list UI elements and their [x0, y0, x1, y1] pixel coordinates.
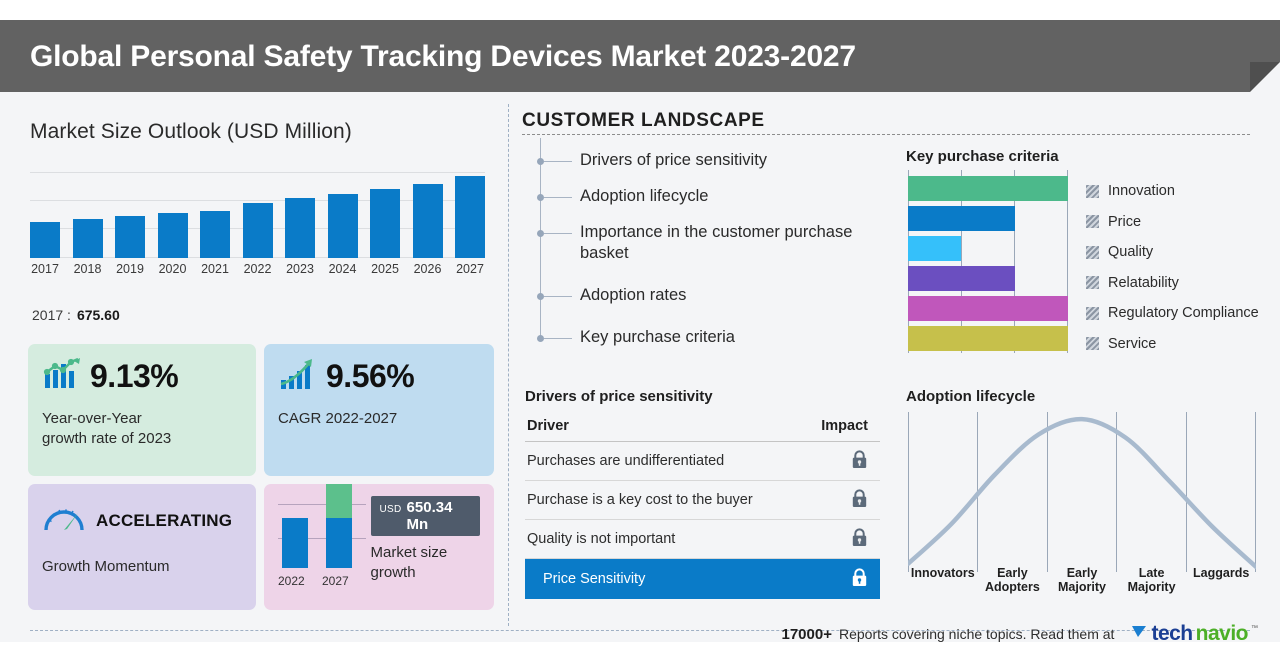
- legend-item: Regulatory Compliance: [1086, 298, 1259, 329]
- infographic-page: Global Personal Safety Tracking Devices …: [0, 0, 1280, 670]
- legend-swatch-icon: [1086, 246, 1099, 259]
- driver-label: Quality is not important: [527, 531, 675, 547]
- market-size-note: 2017 :675.60: [32, 307, 120, 323]
- drivers-table-body: Purchases are undifferentiatedPurchase i…: [525, 442, 880, 599]
- market-size-bar: [115, 216, 145, 258]
- purchase-criteria-bar: [908, 176, 1068, 201]
- market-size-growth-chart: 2022 2027: [278, 496, 361, 588]
- market-size-x-label: 2021: [200, 262, 230, 276]
- market-size-bar: [455, 176, 485, 258]
- mini-x-label-2022: 2022: [278, 574, 305, 588]
- market-size-bar: [73, 219, 103, 258]
- bullet-dot-icon: [537, 158, 544, 165]
- legend-item: Service: [1086, 329, 1259, 360]
- legend-swatch-icon: [1086, 276, 1099, 289]
- kpi-card-momentum: ACCELERATING Growth Momentum: [28, 484, 256, 610]
- usd-badge: USD 650.34 Mn: [371, 496, 480, 536]
- gridline: [278, 504, 366, 505]
- market-size-x-label: 2023: [285, 262, 315, 276]
- market-size-x-label: 2018: [73, 262, 103, 276]
- adoption-stage-label: EarlyMajority: [1047, 566, 1117, 595]
- logo-text-navio: navio: [1196, 622, 1248, 646]
- mini-x-label-2027: 2027: [322, 574, 349, 588]
- driver-label: Purchases are undifferentiated: [527, 453, 724, 469]
- kpi-yoy-caption-line1: Year-over-Year: [42, 410, 142, 427]
- legend-swatch-icon: [1086, 215, 1099, 228]
- adoption-lifecycle-stage-labels: InnovatorsEarlyAdoptersEarlyMajorityLate…: [908, 566, 1256, 595]
- kpi-card-cagr: 9.56% CAGR 2022-2027: [264, 344, 494, 476]
- kpi-cagr-value: 9.56%: [326, 358, 414, 395]
- market-size-growth-caption: Market size growth: [371, 543, 480, 582]
- customer-landscape-underline: [522, 134, 1250, 135]
- adoption-stage-label: LateMajority: [1117, 566, 1187, 595]
- legend-swatch-icon: [1086, 185, 1099, 198]
- market-size-x-label: 2026: [413, 262, 443, 276]
- market-size-bar: [413, 184, 443, 258]
- impact-cell: [851, 450, 868, 473]
- kpi-momentum-value: ACCELERATING: [96, 511, 232, 531]
- kpi-momentum-row: ACCELERATING: [42, 502, 242, 539]
- connector-line: [544, 161, 572, 162]
- purchase-criteria-bars: [908, 176, 1068, 356]
- legend-label: Innovation: [1108, 183, 1175, 199]
- customer-landscape-title: CUSTOMER LANDSCAPE: [522, 110, 765, 132]
- market-size-growth-info: USD 650.34 Mn Market size growth: [371, 496, 480, 588]
- purchase-criteria-bar: [908, 326, 1068, 351]
- market-size-bar: [328, 194, 358, 258]
- legend-swatch-icon: [1086, 337, 1099, 350]
- note-value: 675.60: [77, 307, 120, 323]
- impact-cell: [851, 568, 868, 591]
- market-size-chart: [30, 172, 485, 258]
- market-size-x-label: 2025: [370, 262, 400, 276]
- mini-bar-2022: [282, 518, 308, 568]
- legend-label: Relatability: [1108, 275, 1179, 291]
- page-title: Global Personal Safety Tracking Devices …: [30, 40, 856, 74]
- logo-trademark: ™: [1251, 625, 1258, 632]
- bullet-dot-icon: [537, 293, 544, 300]
- footer-text: Reports covering niche topics. Read them…: [839, 626, 1114, 642]
- impact-cell: [851, 528, 868, 551]
- legend-label: Service: [1108, 336, 1156, 352]
- technavio-logo[interactable]: tech navio ™: [1131, 622, 1258, 646]
- table-row[interactable]: Purchase is a key cost to the buyer: [525, 481, 880, 520]
- market-size-x-label: 2019: [115, 262, 145, 276]
- customer-landscape-item-label: Drivers of price sensitivity: [580, 150, 870, 171]
- footer: 17000+ Reports covering niche topics. Re…: [0, 620, 1280, 648]
- market-size-bar: [30, 222, 60, 258]
- lock-icon: [851, 528, 868, 547]
- growth-caption-line2: growth: [371, 564, 416, 581]
- purchase-criteria-title: Key purchase criteria: [906, 148, 1059, 165]
- bullet-dot-icon: [537, 230, 544, 237]
- adoption-lifecycle-chart: [908, 412, 1256, 572]
- kpi-card-yoy: 9.13% Year-over-Year growth rate of 2023: [28, 344, 256, 476]
- vertical-divider: [508, 104, 509, 626]
- customer-landscape-spine: [540, 138, 541, 338]
- bullet-dot-icon: [537, 335, 544, 342]
- market-size-x-label: 2020: [158, 262, 188, 276]
- market-size-bar: [200, 211, 230, 258]
- legend-item: Relatability: [1086, 268, 1259, 299]
- connector-line: [544, 338, 572, 339]
- usd-badge-value: 650.34 Mn: [407, 499, 471, 533]
- customer-landscape-item-label: Adoption lifecycle: [580, 186, 870, 207]
- connector-line: [544, 233, 572, 234]
- connector-line: [544, 296, 572, 297]
- drivers-table-header: Driver Impact: [525, 418, 880, 442]
- market-size-bar: [370, 189, 400, 258]
- market-size-bar: [158, 213, 188, 258]
- drivers-table: Driver Impact Purchases are undifferenti…: [525, 418, 880, 599]
- bar-line-growth-icon: [42, 356, 82, 397]
- legend-item: Quality: [1086, 237, 1259, 268]
- market-size-x-labels: 2017201820192020202120222023202420252026…: [30, 262, 485, 276]
- driver-label: Purchase is a key cost to the buyer: [527, 492, 753, 508]
- legend-label: Price: [1108, 214, 1141, 230]
- lock-icon: [851, 450, 868, 469]
- market-size-bar: [243, 203, 273, 258]
- purchase-criteria-bar: [908, 236, 961, 261]
- customer-landscape-item-label: Importance in the customer purchase bask…: [580, 222, 870, 264]
- kpi-yoy-caption: Year-over-Year growth rate of 2023: [42, 409, 242, 450]
- customer-landscape-item-label: Key purchase criteria: [580, 327, 870, 348]
- adoption-stage-label: Innovators: [908, 566, 978, 595]
- header-fold-corner-icon: [1250, 62, 1280, 92]
- bar-arrow-growth-icon: [278, 356, 318, 397]
- market-size-x-label: 2017: [30, 262, 60, 276]
- table-row[interactable]: Price Sensitivity: [525, 559, 880, 599]
- legend-label: Quality: [1108, 244, 1153, 260]
- legend-item: Innovation: [1086, 176, 1259, 207]
- market-size-x-label: 2024: [328, 262, 358, 276]
- purchase-criteria-chart: [908, 170, 1068, 353]
- kpi-yoy-caption-line2: growth rate of 2023: [42, 430, 171, 447]
- column-header-driver: Driver: [527, 418, 569, 434]
- purchase-criteria-bar: [908, 206, 1015, 231]
- speedometer-icon: [42, 502, 88, 539]
- logo-text-tech: tech: [1151, 622, 1192, 646]
- legend-label: Regulatory Compliance: [1108, 305, 1259, 321]
- customer-landscape-item-label: Adoption rates: [580, 285, 870, 306]
- adoption-lifecycle-curve: [908, 412, 1256, 572]
- kpi-cagr-row: 9.56%: [278, 356, 480, 397]
- kpi-card-market-size-growth: 2022 2027 USD 650.34 Mn Market size grow…: [264, 484, 494, 610]
- lock-icon: [851, 489, 868, 508]
- kpi-cagr-caption: CAGR 2022-2027: [278, 409, 480, 429]
- impact-cell: [851, 489, 868, 512]
- purchase-criteria-bar: [908, 296, 1068, 321]
- legend-swatch-icon: [1086, 307, 1099, 320]
- table-row[interactable]: Purchases are undifferentiated: [525, 442, 880, 481]
- market-size-growth-wrap: 2022 2027 USD 650.34 Mn Market size grow…: [278, 496, 480, 588]
- usd-badge-currency: USD: [380, 504, 402, 515]
- market-size-title: Market Size Outlook (USD Million): [30, 120, 352, 144]
- market-size-x-label: 2027: [455, 262, 485, 276]
- legend-item: Price: [1086, 207, 1259, 238]
- note-year-label: 2017 :: [32, 307, 71, 323]
- driver-label: Price Sensitivity: [543, 571, 645, 587]
- footer-report-count: 17000+: [781, 626, 831, 643]
- mini-bar-2027: [326, 484, 352, 568]
- kpi-momentum-caption: Growth Momentum: [42, 557, 242, 577]
- adoption-stage-label: EarlyAdopters: [978, 566, 1048, 595]
- purchase-criteria-legend: InnovationPriceQualityRelatabilityRegula…: [1086, 176, 1259, 359]
- market-size-bar: [285, 198, 315, 258]
- drivers-title: Drivers of price sensitivity: [525, 388, 713, 405]
- growth-caption-line1: Market size: [371, 544, 448, 561]
- purchase-criteria-bar: [908, 266, 1015, 291]
- column-header-impact: Impact: [821, 418, 868, 434]
- adoption-lifecycle-title: Adoption lifecycle: [906, 388, 1035, 405]
- technavio-arrow-icon: [1131, 623, 1148, 645]
- lock-icon: [851, 568, 868, 587]
- kpi-yoy-value: 9.13%: [90, 358, 178, 395]
- market-size-x-label: 2022: [243, 262, 273, 276]
- adoption-stage-label: Laggards: [1186, 566, 1256, 595]
- kpi-yoy-row: 9.13%: [42, 356, 242, 397]
- market-size-bars: [30, 172, 485, 258]
- top-white-strip: [0, 0, 1280, 20]
- table-row[interactable]: Quality is not important: [525, 520, 880, 559]
- bullet-dot-icon: [537, 194, 544, 201]
- connector-line: [544, 197, 572, 198]
